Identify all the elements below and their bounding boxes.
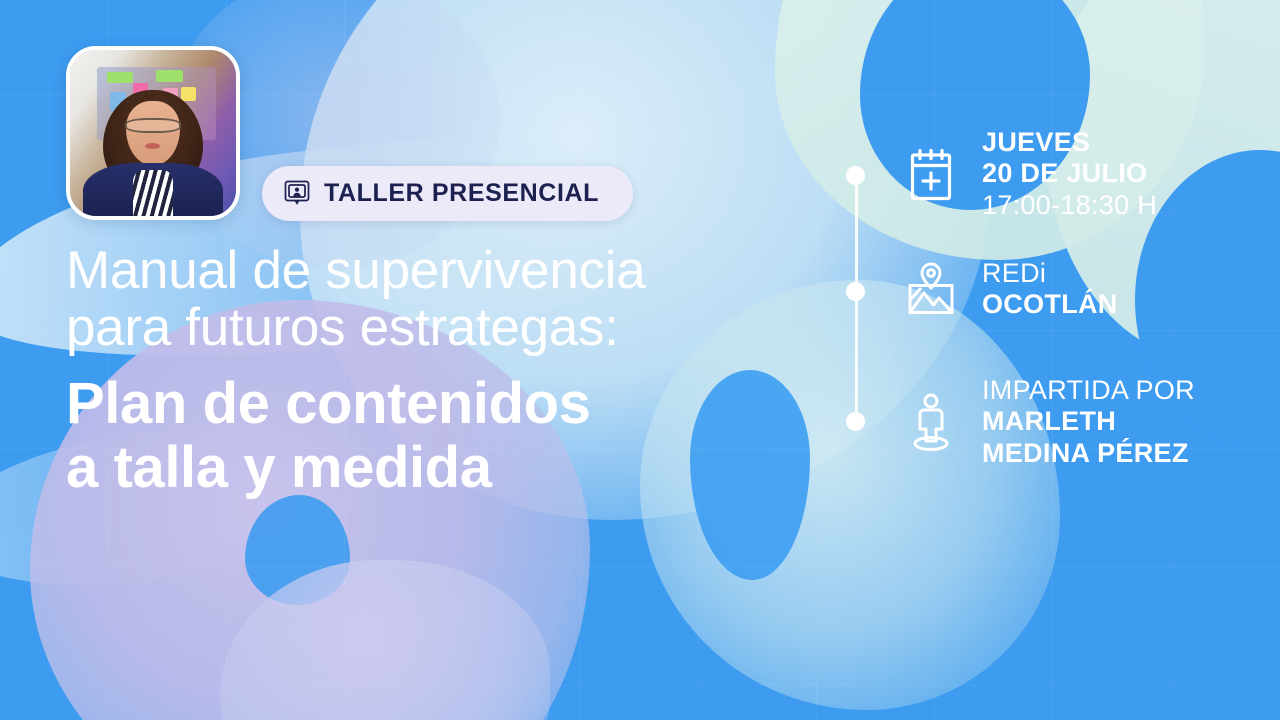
event-presenter-label: IMPARTIDA POR [982,375,1195,406]
event-date-day: JUEVES [982,127,1157,158]
event-date-text: JUEVES 20 DE JULIO 17:00-18:30 H [982,127,1157,221]
event-presenter-last: MEDINA PÉREZ [982,438,1195,469]
event-place-city: OCOTLÁN [982,289,1118,320]
presenter-person-icon [902,391,960,453]
event-place-row: REDi OCOTLÁN [902,258,1118,321]
event-title: Plan de contenidos a talla y medida [66,372,806,500]
event-date-row: JUEVES 20 DE JULIO 17:00-18:30 H [902,127,1157,221]
event-title-line-1: Plan de contenidos [66,371,591,436]
event-presenter-first: MARLETH [982,406,1195,437]
workshop-type-badge: TALLER PRESENCIAL [262,166,633,221]
event-title-line-2: a talla y medida [66,436,806,500]
event-place-venue: REDi [982,258,1118,289]
event-subtitle: Manual de supervivencia para futuros est… [66,242,786,356]
calendar-plus-icon [902,143,960,205]
event-subtitle-line-1: Manual de supervivencia [66,241,645,300]
event-place-text: REDi OCOTLÁN [982,258,1118,321]
event-poster: TALLER PRESENCIAL Manual de supervivenci… [0,0,1280,720]
event-subtitle-line-2: para futuros estrategas: [66,299,786,356]
timeline-dot-place [846,282,865,301]
event-date-full: 20 DE JULIO [982,158,1157,189]
event-date-time: 17:00-18:30 H [982,190,1157,221]
logo-strip: M3RCaDELa MARCA! ESTUDIO CREATIVO [0,560,1280,720]
map-pin-icon [902,258,960,320]
info-timeline [846,166,866,434]
speaker-photo [66,46,240,220]
event-presenter-text: IMPARTIDA POR MARLETH MEDINA PÉREZ [982,375,1195,469]
timeline-dot-date [846,166,865,185]
timeline-dot-presenter [846,412,865,431]
workshop-type-label: TALLER PRESENCIAL [324,179,599,208]
presentation-person-icon [284,180,310,208]
speaker-photo-image [70,50,236,216]
event-presenter-row: IMPARTIDA POR MARLETH MEDINA PÉREZ [902,375,1195,469]
